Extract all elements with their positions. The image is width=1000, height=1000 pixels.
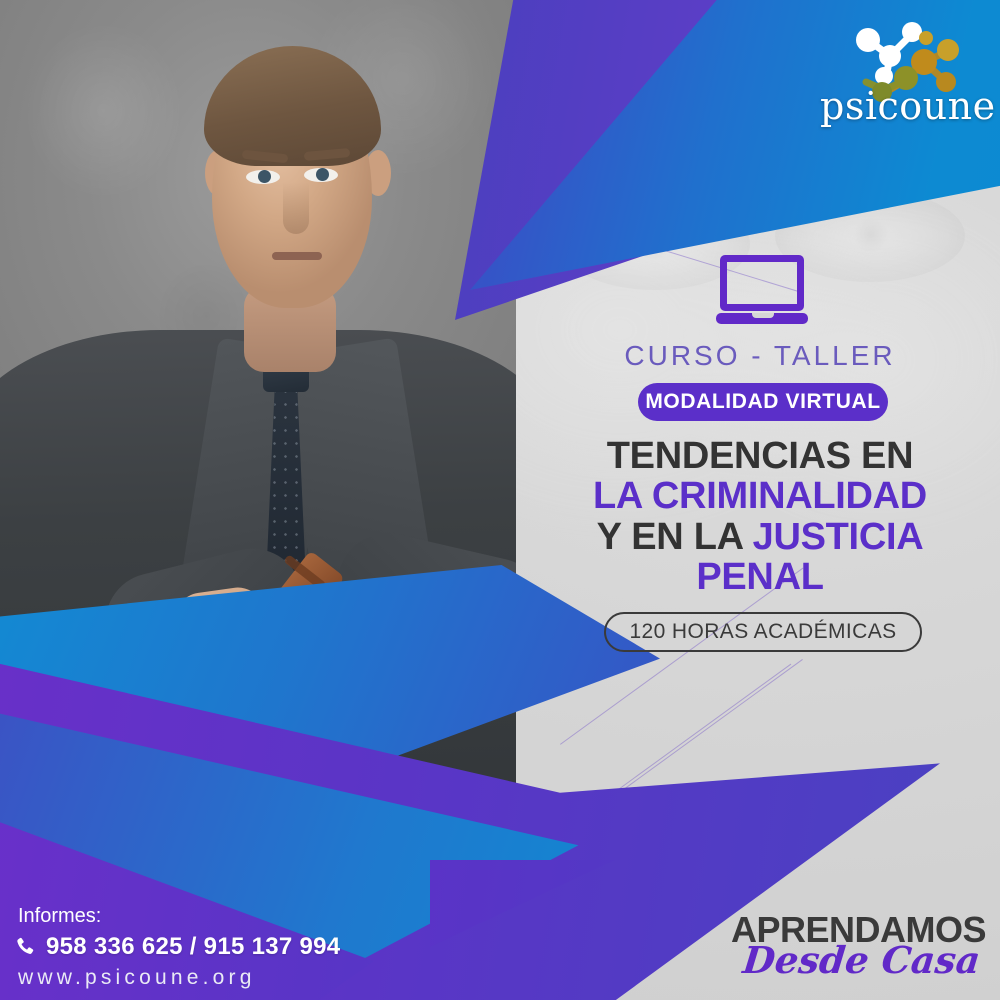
title-line-2: LA CRIMINALIDAD (520, 476, 1000, 516)
modality-badge: MODALIDAD VIRTUAL (638, 383, 888, 421)
title-line-1: TENDENCIAS EN (520, 436, 1000, 476)
pupil-left (258, 170, 271, 183)
title-line-3-dark: Y EN LA (597, 516, 743, 558)
website-url[interactable]: www.psicoune.org (18, 966, 256, 990)
tagline: APRENDAMOS Desde Casa (686, 912, 986, 979)
nose (283, 182, 309, 234)
informes-label: Informes: (18, 905, 101, 928)
phone-row[interactable]: 958 336 625 / 915 137 994 (14, 933, 340, 961)
phone-icon (14, 935, 36, 959)
phone-numbers: 958 336 625 / 915 137 994 (46, 933, 340, 961)
title-line-3: Y EN LA JUSTICIA (520, 517, 1000, 557)
modality-badge-label: MODALIDAD VIRTUAL (645, 390, 880, 414)
title-line-4: PENAL (520, 557, 1000, 597)
course-kicker: CURSO - TALLER (520, 340, 1000, 372)
mouth (272, 252, 322, 260)
title-line-3-purple: JUSTICIA (753, 516, 924, 558)
laptop-screen (720, 255, 804, 311)
tagline-bottom: Desde Casa (684, 942, 982, 979)
hours-pill: 120 HORAS ACADÉMICAS (604, 612, 922, 652)
laptop-notch (752, 313, 774, 318)
course-title: TENDENCIAS EN LA CRIMINALIDAD Y EN LA JU… (520, 436, 1000, 597)
pupil-right (316, 168, 329, 181)
promotional-poster: psicoune CURSO - TALLER MODALIDAD VIRTUA… (0, 0, 1000, 1000)
hours-label: 120 HORAS ACADÉMICAS (629, 620, 896, 644)
content-column: CURSO - TALLER MODALIDAD VIRTUAL TENDENC… (520, 0, 1000, 1000)
laptop-icon (716, 255, 808, 327)
